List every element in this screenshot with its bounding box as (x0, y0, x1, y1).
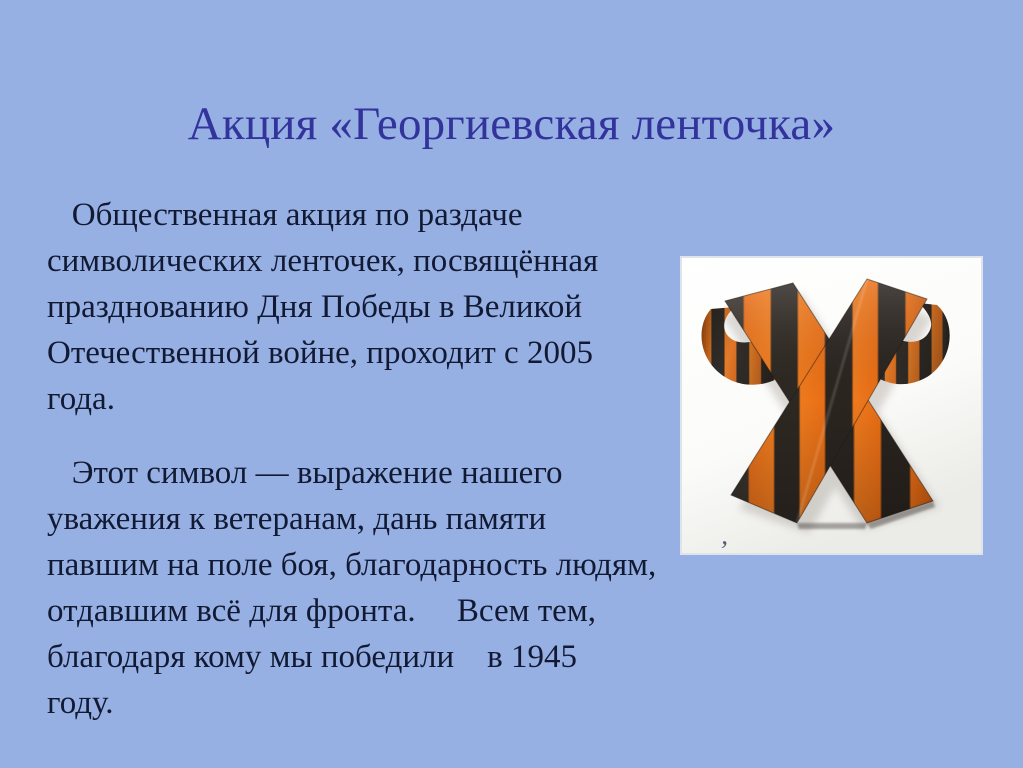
text-line: Отечественной войне, проходит с 2005 (47, 330, 727, 376)
text-line: года. (47, 376, 727, 422)
text-line: благодаря кому мы победили в 1945 (47, 634, 727, 680)
text-line: празднованию Дня Победы в Великой (47, 284, 727, 330)
text-line: году. (47, 680, 727, 726)
text-line: уважения к ветеранам, дань памяти (47, 496, 727, 542)
slide-body-text: Общественная акция по раздаче символичес… (47, 192, 727, 726)
text-line: Этот символ — выражение нашего (47, 450, 727, 496)
ribbon-illustration (681, 257, 982, 554)
paragraph-2: Этот символ — выражение нашего уважения … (47, 450, 727, 726)
st-george-ribbon-photo (681, 257, 982, 554)
slide-canvas: Акция «Георгиевская ленточка» Общественн… (0, 0, 1023, 768)
text-line: Общественная акция по раздаче (47, 192, 727, 238)
text-line: отдавшим всё для фронта. Всем тем, (47, 588, 727, 634)
text-line: символических ленточек, посвящённая (47, 238, 727, 284)
text-line: павшим на поле боя, благодарность людям, (47, 542, 727, 588)
paragraph-1: Общественная акция по раздаче символичес… (47, 192, 727, 422)
page-title: Акция «Георгиевская ленточка» (0, 96, 1023, 152)
